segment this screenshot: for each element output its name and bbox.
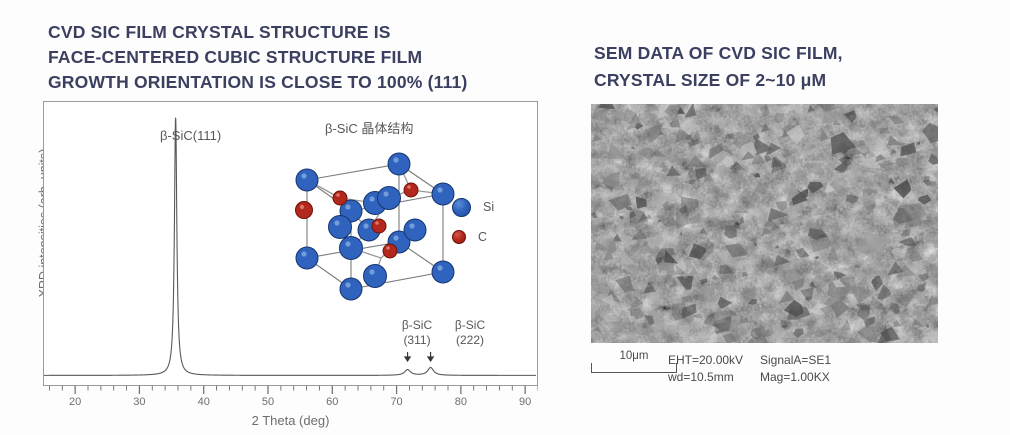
x-tick-label: 90 <box>511 396 539 408</box>
sem-metadata: EHT=20.00kV SignalA=SE1 wd=10.5mm Mag=1.… <box>668 352 831 385</box>
c-atom-icon <box>452 230 466 244</box>
sem-metadata-row: EHT=20.00kV SignalA=SE1 <box>668 352 831 369</box>
x-tick-label: 50 <box>254 396 282 408</box>
slide-canvas: CVD SIC FILM CRYSTAL STRUCTURE IS FACE-C… <box>0 0 1010 435</box>
crystal-inset-caption: β-SiC 晶体结构 <box>325 118 413 137</box>
left-title-line-2: FACE-CENTERED CUBIC STRUCTURE FILM <box>48 45 548 70</box>
peak-label-311-line2: (311) <box>391 333 443 348</box>
sem-scale-bar-line <box>591 363 677 373</box>
sem-meta-mag: Mag=1.00KX <box>760 369 830 386</box>
sem-meta-eht: EHT=20.00kV <box>668 352 760 369</box>
peak-label-222-line2: (222) <box>444 333 496 348</box>
legend-item-si: Si <box>452 192 494 222</box>
legend-item-c: C <box>452 222 494 252</box>
peak-label-111: β-SiC(111) <box>160 128 221 143</box>
peak-label-311: β-SiC (311) <box>391 318 443 348</box>
peak-label-222-line1: β-SiC <box>444 318 496 333</box>
right-panel-title: SEM DATA OF CVD SIC FILM, CRYSTAL SIZE O… <box>594 40 974 94</box>
x-tick-label: 60 <box>318 396 346 408</box>
left-panel-title: CVD SIC FILM CRYSTAL STRUCTURE IS FACE-C… <box>48 20 548 95</box>
sem-micrograph <box>591 104 938 343</box>
x-tick-label: 70 <box>383 396 411 408</box>
xrd-chart: XRD intensities (arb. units) 20304050607… <box>12 96 560 431</box>
crystal-legend: Si C <box>452 192 494 252</box>
x-tick-label: 20 <box>61 396 89 408</box>
left-title-line-3: GROWTH ORIENTATION IS CLOSE TO 100% (111… <box>48 70 548 95</box>
crystal-structure-diagram <box>277 138 467 318</box>
peak-label-222: β-SiC (222) <box>444 318 496 348</box>
x-tick-label: 30 <box>125 396 153 408</box>
sem-meta-signal: SignalA=SE1 <box>760 352 831 369</box>
small-peak-arrows <box>405 352 433 361</box>
sem-scale-bar-label: 10μm <box>591 350 677 362</box>
x-axis-label: 2 Theta (deg) <box>43 413 538 428</box>
x-tick-label: 40 <box>190 396 218 408</box>
sem-image-surface <box>591 104 938 343</box>
x-axis-tick-labels: 2030405060708090 <box>43 396 538 414</box>
si-atom-icon <box>452 198 471 217</box>
x-tick-label: 80 <box>447 396 475 408</box>
sem-texture <box>591 104 938 343</box>
peak-label-311-line1: β-SiC <box>391 318 443 333</box>
left-title-line-1: CVD SIC FILM CRYSTAL STRUCTURE IS <box>48 20 548 45</box>
right-title-line-1: SEM DATA OF CVD SIC FILM, <box>594 40 974 67</box>
sem-meta-wd: wd=10.5mm <box>668 369 760 386</box>
legend-label-c: C <box>478 230 487 244</box>
sem-metadata-row: wd=10.5mm Mag=1.00KX <box>668 369 831 386</box>
sem-scale-bar: 10μm <box>591 350 677 373</box>
right-title-line-2: CRYSTAL SIZE OF 2~10 μM <box>594 67 974 94</box>
legend-label-si: Si <box>483 200 494 214</box>
